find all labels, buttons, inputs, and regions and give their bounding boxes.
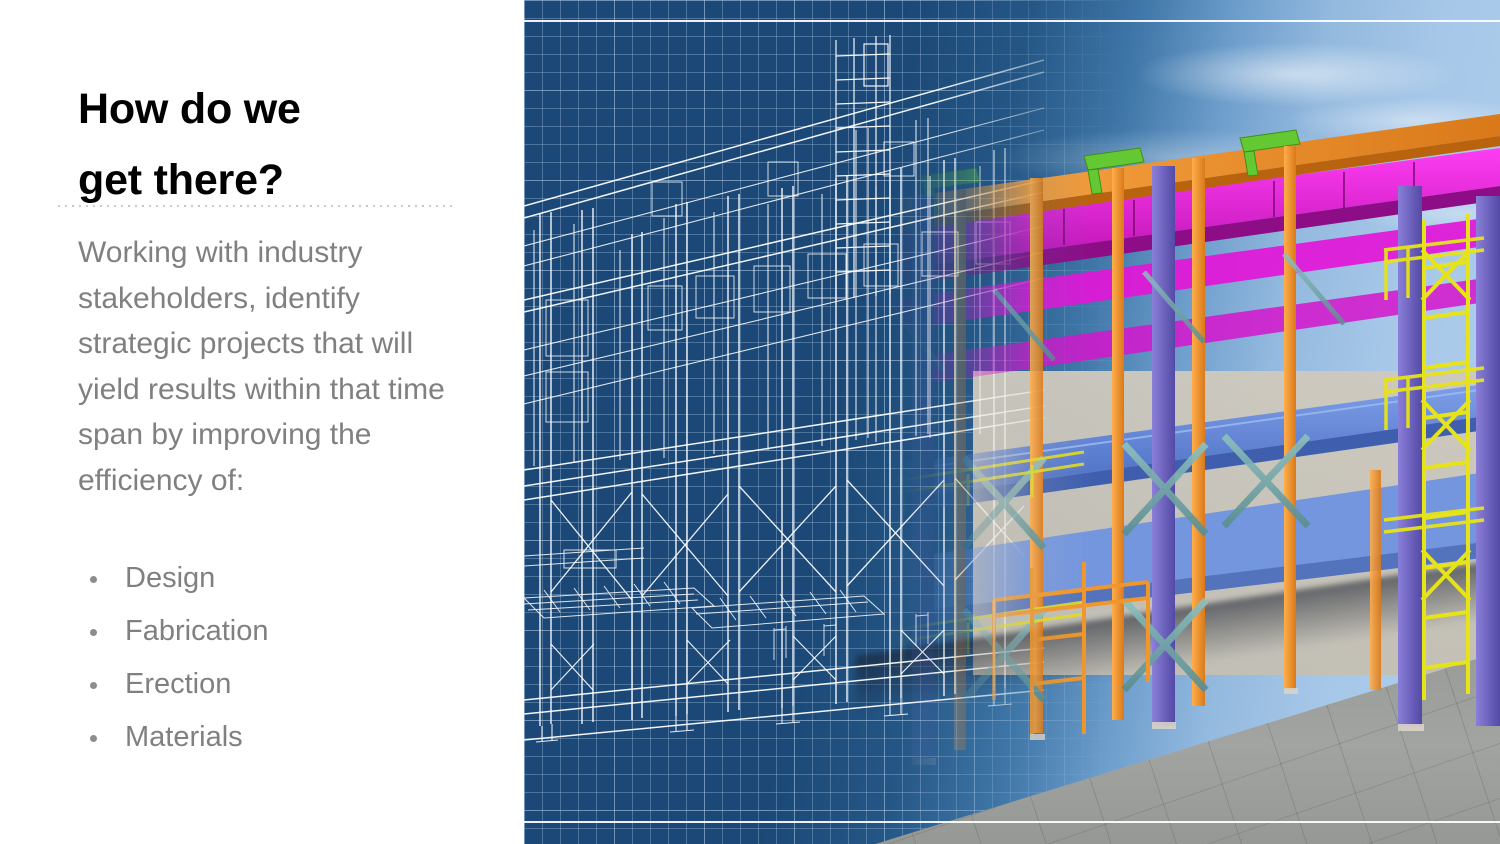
text-panel: How do we get there? Working with indust… <box>0 0 524 844</box>
list-item-label: Erection <box>125 668 231 700</box>
page-title: How do we get there? <box>78 74 478 216</box>
list-item: Design <box>78 552 478 605</box>
list-item: Materials <box>78 711 478 764</box>
list-item-label: Fabrication <box>125 615 268 647</box>
list-item-label: Materials <box>125 721 243 753</box>
bullet-list: Design Fabrication Erection Materials <box>78 552 478 764</box>
bim-colored-render <box>524 0 1500 844</box>
slide: How do we get there? Working with indust… <box>0 0 1500 844</box>
image-frame-line-bottom <box>524 821 1500 823</box>
image-frame-line-top <box>524 20 1500 22</box>
structural-steel-bim-image <box>524 0 1500 844</box>
bullet-dot-icon <box>90 629 97 636</box>
list-item-label: Design <box>125 562 215 594</box>
bullet-dot-icon <box>90 682 97 689</box>
bullet-dot-icon <box>90 735 97 742</box>
list-item: Fabrication <box>78 605 478 658</box>
title-divider <box>58 205 456 207</box>
body-paragraph: Working with industry stakeholders, iden… <box>78 230 468 503</box>
bullet-dot-icon <box>90 576 97 583</box>
list-item: Erection <box>78 658 478 711</box>
